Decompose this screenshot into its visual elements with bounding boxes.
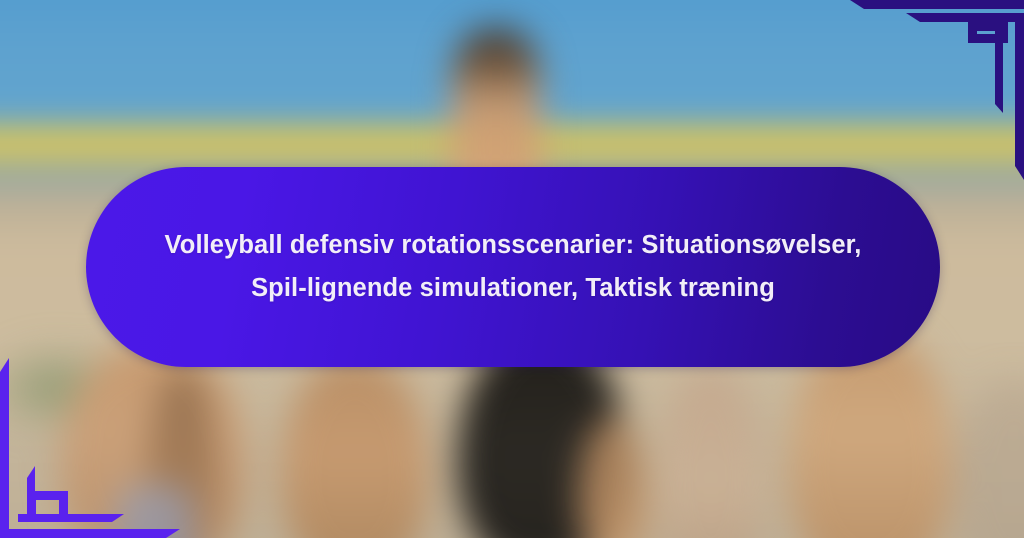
headline-line-2: Spil-lignende simulationer, Taktisk træn… — [165, 267, 862, 310]
ornament-shapes-top-right — [850, 0, 1024, 180]
headline-card: Volleyball defensiv rotationsscenarier: … — [86, 167, 940, 367]
background-player-6 — [954, 380, 1024, 538]
background-player-4 — [656, 368, 766, 538]
banner-canvas: Volleyball defensiv rotationsscenarier: … — [0, 0, 1024, 538]
headline-line-1: Volleyball defensiv rotationsscenarier: … — [165, 224, 862, 267]
headline-text: Volleyball defensiv rotationsscenarier: … — [165, 224, 862, 310]
background-player-3-arm — [578, 417, 648, 538]
background-player-2 — [280, 356, 430, 538]
corner-ornament-top-right — [850, 0, 1024, 180]
corner-ornament-bottom-left — [0, 358, 180, 538]
ornament-shapes-bottom-left — [0, 358, 180, 538]
